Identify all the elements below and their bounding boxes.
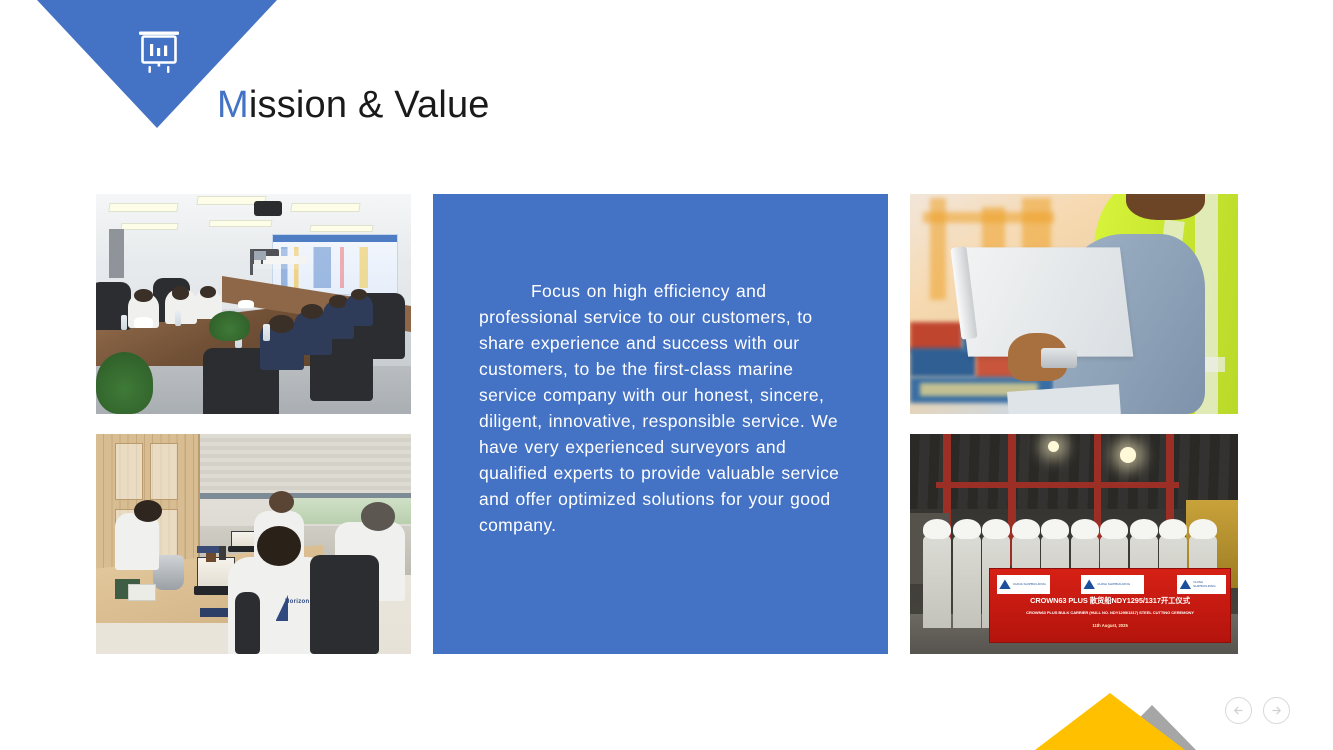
slide-mission-and-value: Mission & Value: [0, 0, 1333, 750]
presentation-board-chart-icon: [136, 27, 182, 77]
page-title-rest: ission & Value: [249, 84, 490, 126]
page-title: Mission & Value: [217, 84, 490, 127]
ceremony-logo-text-right: CHINA SHIPBUILDING: [1193, 580, 1225, 588]
previous-slide-button[interactable]: [1225, 697, 1252, 724]
ceremony-logo-text-center: CHINA SHIPBUILDING: [1097, 582, 1130, 586]
ceremony-banner-logo-center: CHINA SHIPBUILDING: [1081, 575, 1144, 594]
photo-steel-cutting-artwork: CHINA SHIPBUILDING CHINA SHIPBUILDING CH…: [910, 434, 1238, 654]
mission-statement-panel: Focus on high efficiency and professiona…: [433, 194, 888, 654]
photo-port-surveyor: [910, 194, 1238, 414]
ceremony-banner-logo-left: CHINA SHIPBUILDING: [997, 575, 1050, 594]
ceremony-banner-subtitle: CROWN63 PLUS BULK CARRIER (HULL NO. NDY1…: [995, 610, 1226, 615]
photo-office-meeting: Horizon: [96, 434, 411, 654]
ceremony-banner-date: 11th August, 2025: [995, 623, 1226, 628]
photo-port-surveyor-artwork: [910, 194, 1238, 414]
ceremony-banner-logo-right: CHINA SHIPBUILDING: [1177, 575, 1225, 594]
mission-statement-text: Focus on high efficiency and professiona…: [479, 278, 856, 538]
photo-steel-cutting-ceremony: CHINA SHIPBUILDING CHINA SHIPBUILDING CH…: [910, 434, 1238, 654]
photo-meeting-room-artwork: [96, 194, 411, 414]
yellow-triangle-decoration: [1035, 693, 1185, 750]
ceremony-banner: CHINA SHIPBUILDING CHINA SHIPBUILDING CH…: [989, 568, 1232, 643]
ceremony-banner-title: CROWN63 PLUS 散货船NDY1295/1317开工仪式: [995, 595, 1226, 606]
next-slide-button[interactable]: [1263, 697, 1290, 724]
ceremony-logo-text-left: CHINA SHIPBUILDING: [1013, 582, 1046, 586]
arrow-left-icon: [1231, 703, 1246, 718]
arrow-right-icon: [1269, 703, 1284, 718]
page-title-accent-letter: M: [217, 84, 249, 126]
photo-meeting-room: [96, 194, 411, 414]
photo-office-meeting-artwork: Horizon: [96, 434, 411, 654]
